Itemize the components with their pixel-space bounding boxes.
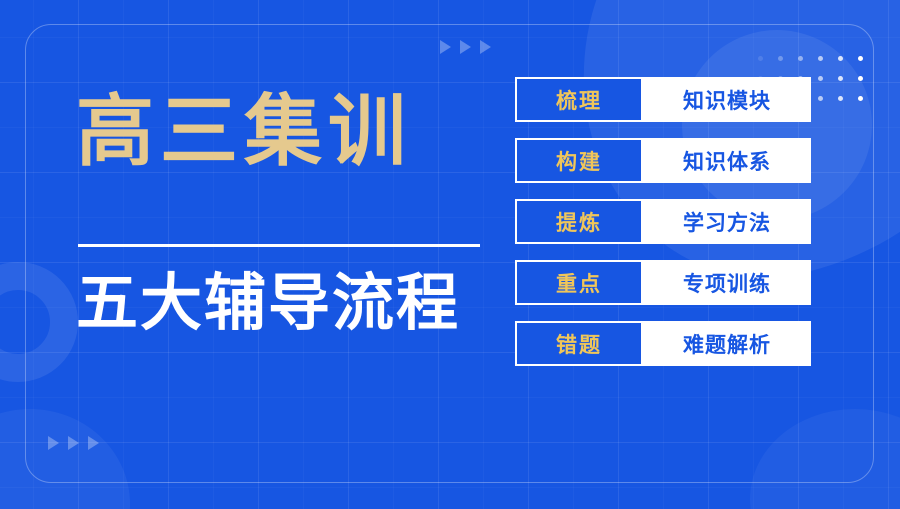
arrows-top-icon bbox=[440, 40, 491, 54]
decorative-circle-bottom-left bbox=[0, 409, 130, 509]
headline-block: 高三集训 五大辅导流程 bbox=[76, 92, 486, 335]
list-item-text: 知识模块 bbox=[643, 77, 811, 122]
dot bbox=[818, 96, 823, 101]
triangle-right-icon bbox=[480, 40, 491, 54]
list-item[interactable]: 错题难题解析 bbox=[515, 321, 811, 366]
decorative-circle-bottom-right bbox=[750, 409, 900, 509]
list-item[interactable]: 梳理知识模块 bbox=[515, 77, 811, 122]
list-item-text: 学习方法 bbox=[643, 199, 811, 244]
dot bbox=[858, 56, 863, 61]
page-title: 高三集训 bbox=[76, 92, 486, 170]
list-item-text: 知识体系 bbox=[643, 138, 811, 183]
page-subtitle: 五大辅导流程 bbox=[76, 273, 486, 335]
dot bbox=[838, 56, 843, 61]
list-item-tag: 重点 bbox=[515, 260, 643, 305]
dot bbox=[858, 76, 863, 81]
dot bbox=[838, 76, 843, 81]
decorative-ring-left bbox=[0, 262, 78, 382]
list-item-text: 难题解析 bbox=[643, 321, 811, 366]
list-item[interactable]: 提炼学习方法 bbox=[515, 199, 811, 244]
dot bbox=[778, 56, 783, 61]
dot bbox=[858, 96, 863, 101]
triangle-right-icon bbox=[88, 436, 99, 450]
triangle-right-icon bbox=[68, 436, 79, 450]
arrows-bottom-icon bbox=[48, 436, 99, 450]
triangle-right-icon bbox=[440, 40, 451, 54]
list-item[interactable]: 构建知识体系 bbox=[515, 138, 811, 183]
triangle-right-icon bbox=[48, 436, 59, 450]
list-item[interactable]: 重点专项训练 bbox=[515, 260, 811, 305]
dot bbox=[838, 96, 843, 101]
dot bbox=[798, 56, 803, 61]
dot bbox=[818, 56, 823, 61]
list-item-text: 专项训练 bbox=[643, 260, 811, 305]
list-item-tag: 梳理 bbox=[515, 77, 643, 122]
process-list: 梳理知识模块构建知识体系提炼学习方法重点专项训练错题难题解析 bbox=[515, 77, 811, 366]
list-item-tag: 提炼 bbox=[515, 199, 643, 244]
poster-canvas: 高三集训 五大辅导流程 梳理知识模块构建知识体系提炼学习方法重点专项训练错题难题… bbox=[0, 0, 900, 509]
list-item-tag: 错题 bbox=[515, 321, 643, 366]
dot bbox=[758, 56, 763, 61]
title-divider bbox=[78, 244, 480, 247]
dot bbox=[818, 76, 823, 81]
triangle-right-icon bbox=[460, 40, 471, 54]
list-item-tag: 构建 bbox=[515, 138, 643, 183]
